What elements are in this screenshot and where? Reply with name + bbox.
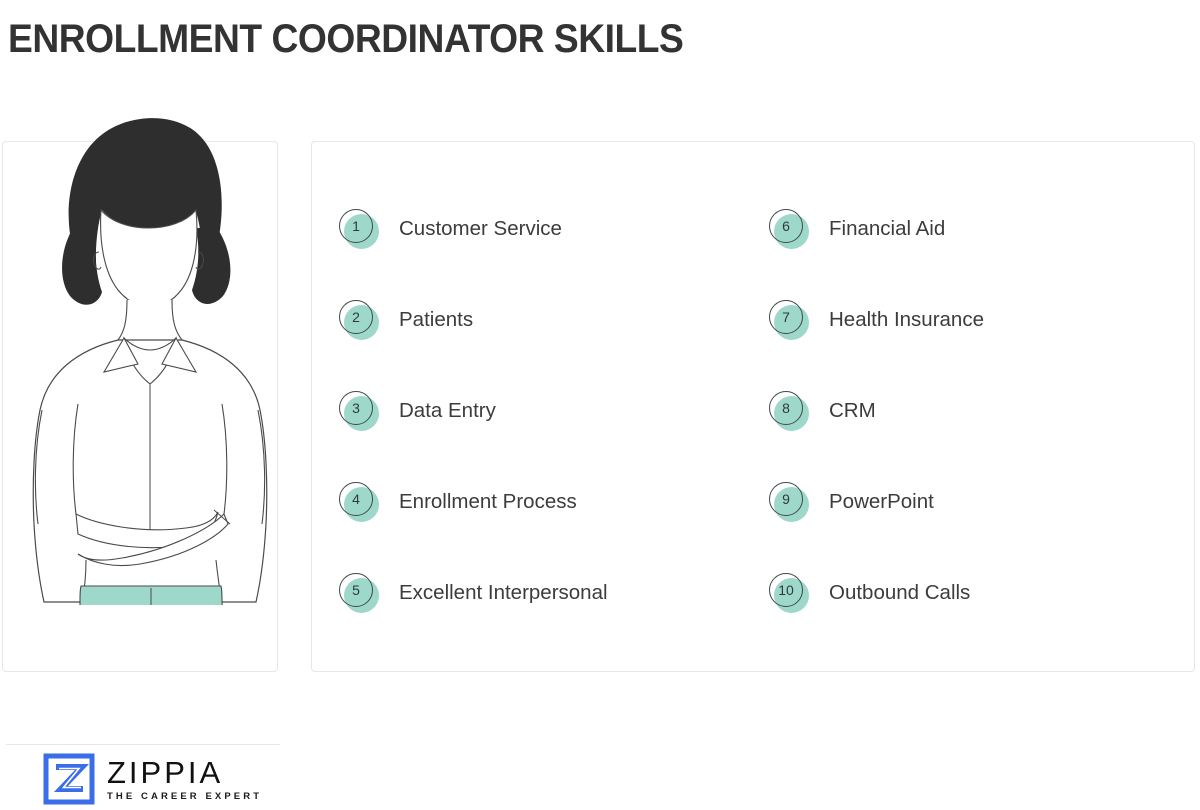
badge-number: 8 [769,391,803,425]
skill-item-5[interactable]: 5 Excellent Interpersonal [339,547,769,638]
skill-label: CRM [829,398,876,424]
zippia-wordmark: ZIPPIA [107,756,262,789]
skill-number-badge-10: 10 [769,573,809,613]
badge-number: 9 [769,482,803,516]
badge-number: 3 [339,391,373,425]
skill-item-2[interactable]: 2 Patients [339,274,769,365]
illustration-card: ZIPPIA THE CAREER EXPERT [2,141,278,672]
skill-label: Patients [399,307,473,333]
badge-number: 4 [339,482,373,516]
skill-label: Customer Service [399,216,562,242]
skill-item-4[interactable]: 4 Enrollment Process [339,456,769,547]
skill-label: Data Entry [399,398,496,424]
skill-number-badge-7: 7 [769,300,809,340]
skill-item-6[interactable]: 6 Financial Aid [769,183,1194,274]
skill-number-badge-9: 9 [769,482,809,522]
badge-number: 6 [769,209,803,243]
zippia-tagline: THE CAREER EXPERT [107,790,262,803]
page-title: ENROLLMENT COORDINATOR SKILLS [8,14,683,64]
skill-number-badge-4: 4 [339,482,379,522]
skill-number-badge-2: 2 [339,300,379,340]
logo-divider [6,744,280,745]
skill-label: Outbound Calls [829,580,970,606]
skill-label: Financial Aid [829,216,945,242]
skill-item-1[interactable]: 1 Customer Service [339,183,769,274]
skill-number-badge-3: 3 [339,391,379,431]
badge-number: 7 [769,300,803,334]
skill-number-badge-1: 1 [339,209,379,249]
skill-label: Health Insurance [829,307,984,333]
skill-number-badge-6: 6 [769,209,809,249]
skill-item-7[interactable]: 7 Health Insurance [769,274,1194,365]
badge-number: 10 [769,573,803,607]
skill-item-8[interactable]: 8 CRM [769,365,1194,456]
skill-number-badge-8: 8 [769,391,809,431]
badge-number: 5 [339,573,373,607]
skill-item-10[interactable]: 10 Outbound Calls [769,547,1194,638]
skills-card: 1 Customer Service 6 Financial Aid 2 Pat… [311,141,1195,672]
skill-label: Excellent Interpersonal [399,580,608,606]
skill-item-3[interactable]: 3 Data Entry [339,365,769,456]
skill-label: Enrollment Process [399,489,577,515]
skill-number-badge-5: 5 [339,573,379,613]
zippia-logo[interactable]: ZIPPIA THE CAREER EXPERT [43,753,262,805]
zippia-wordmark-group: ZIPPIA THE CAREER EXPERT [107,756,262,803]
zippia-z-mark-icon [43,753,95,805]
badge-number: 1 [339,209,373,243]
skills-grid: 1 Customer Service 6 Financial Aid 2 Pat… [312,142,1194,671]
skill-label: PowerPoint [829,489,934,515]
badge-number: 2 [339,300,373,334]
skill-item-9[interactable]: 9 PowerPoint [769,456,1194,547]
